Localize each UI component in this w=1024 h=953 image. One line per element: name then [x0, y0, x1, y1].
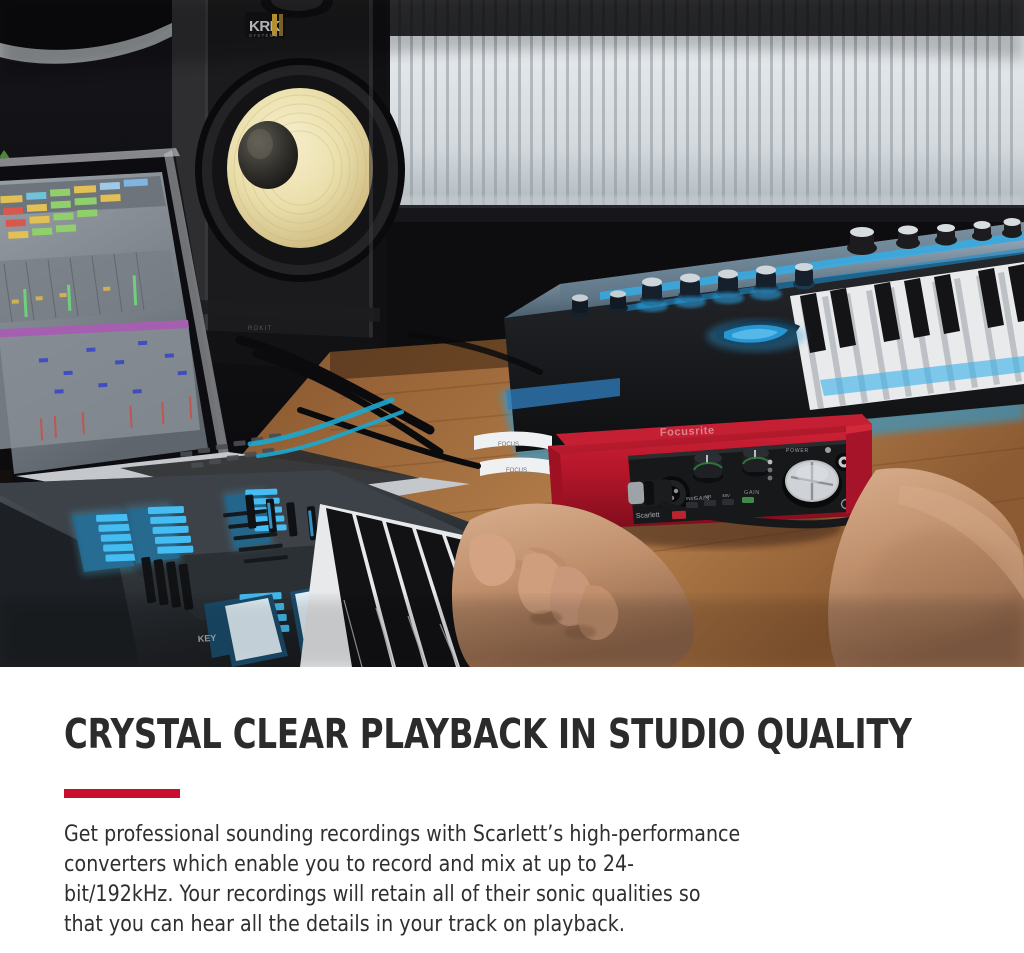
svg-text:INST: INST [686, 496, 696, 501]
svg-text:Focusrite: Focusrite [660, 425, 715, 439]
svg-text:GAIN: GAIN [744, 490, 760, 496]
studio-scene-illustration: KRK SYSTEMS [0, 0, 1024, 667]
accent-divider [64, 789, 180, 798]
svg-text:AIR: AIR [704, 494, 711, 499]
svg-text:Scarlett: Scarlett [636, 512, 660, 520]
page-title: CRYSTAL CLEAR PLAYBACK IN STUDIO QUALITY [64, 712, 912, 756]
svg-text:FOCUS: FOCUS [498, 442, 519, 448]
svg-text:POWER: POWER [786, 448, 809, 454]
feature-description: Get professional sounding recordings wit… [64, 819, 741, 939]
scarlett-monitor-knob [782, 460, 842, 508]
product-feature-page: KRK SYSTEMS [0, 0, 1024, 953]
hero-photo: KRK SYSTEMS [0, 0, 1024, 667]
feature-text-block: CRYSTAL CLEAR PLAYBACK IN STUDIO QUALITY… [0, 667, 1024, 953]
svg-text:ROKIT: ROKIT [248, 326, 272, 332]
svg-text:FOCUS: FOCUS [506, 468, 527, 474]
svg-text:48V: 48V [722, 493, 730, 498]
